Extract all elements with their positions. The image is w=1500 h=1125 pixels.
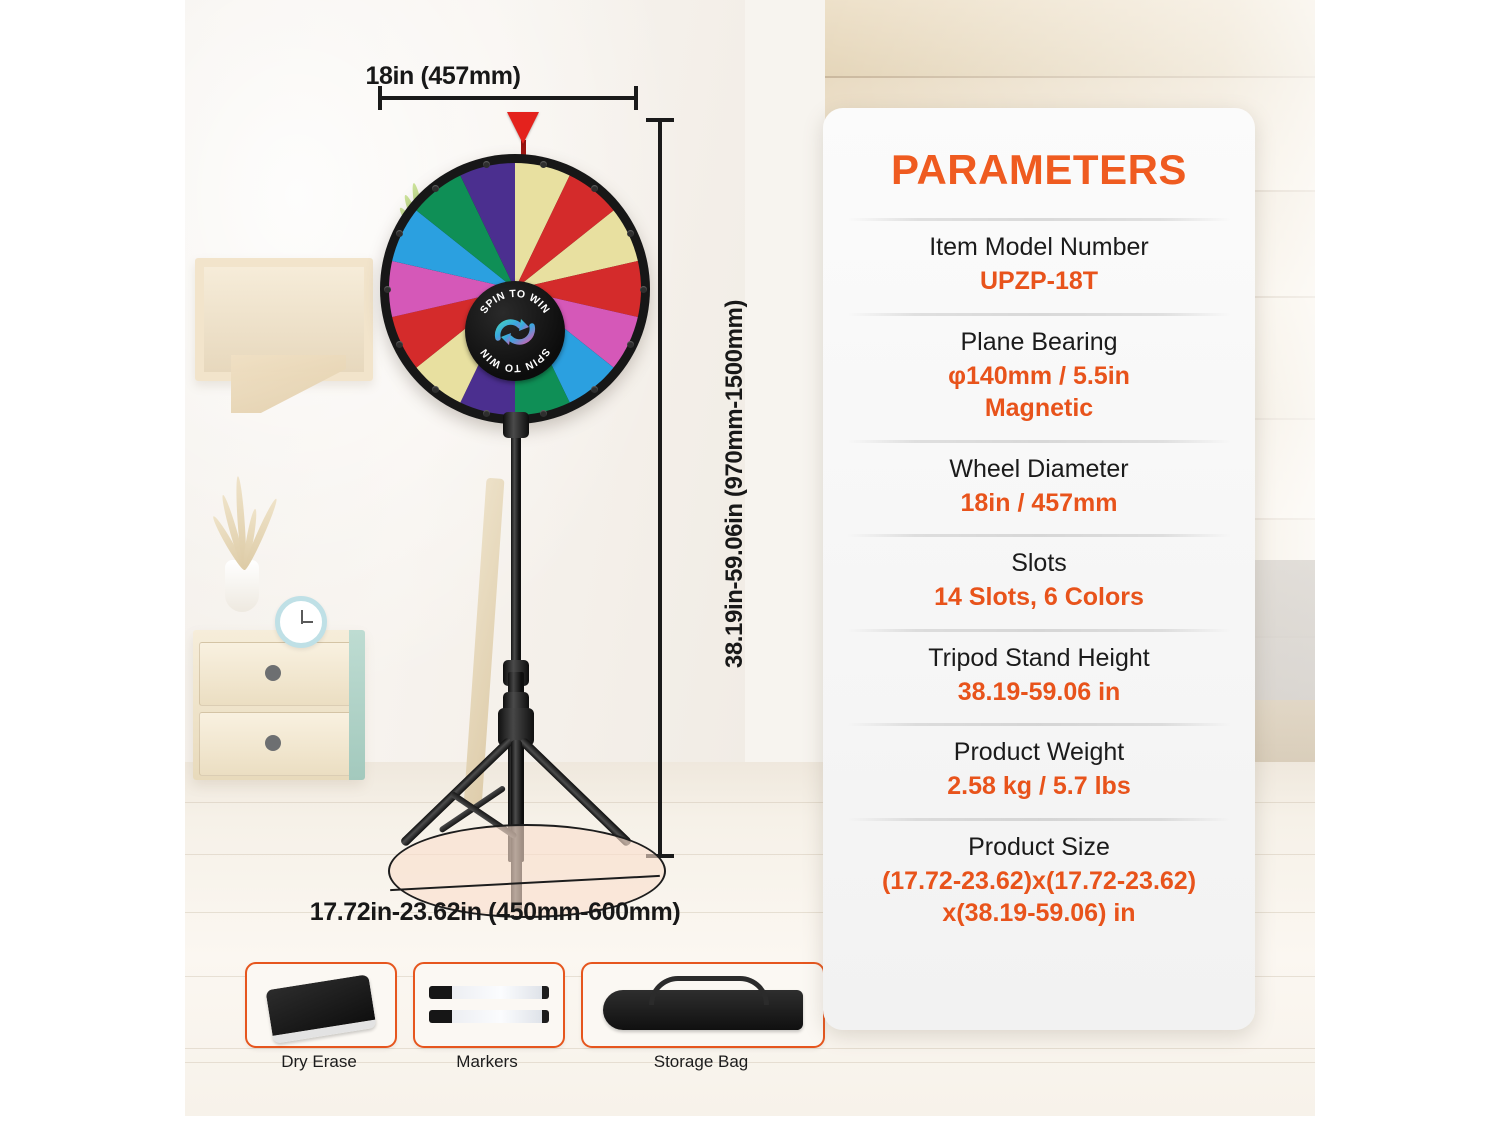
parameter-key: Wheel Diameter: [837, 453, 1241, 485]
prize-wheel-assembly: SPIN TO WIN SPIN TO WIN: [380, 112, 670, 902]
width-dimension-cap-right: [634, 86, 638, 110]
nightstand: [193, 630, 363, 780]
telescoping-pole-upper: [511, 418, 521, 686]
drawer-knob: [265, 735, 281, 751]
marker-pens-icon-2: [429, 1010, 549, 1023]
wheel-peg: [640, 286, 647, 293]
parameter-key: Tripod Stand Height: [837, 642, 1241, 674]
panel-title: PARAMETERS: [823, 146, 1255, 194]
hub-label-top: SPIN TO WIN: [478, 288, 552, 316]
wheel-hub: SPIN TO WIN SPIN TO WIN: [465, 281, 565, 381]
nightstand-side-panel: [349, 630, 365, 780]
prize-wheel: SPIN TO WIN SPIN TO WIN: [380, 154, 650, 424]
accessory-label-storage-bag: Storage Bag: [581, 1052, 821, 1072]
hub-text: SPIN TO WIN SPIN TO WIN: [465, 281, 565, 381]
parameter-key: Slots: [837, 547, 1241, 579]
height-dimension-label: 38.19in-59.06in (970mm-1500mm): [721, 274, 749, 694]
width-dimension-cap-left: [378, 86, 382, 110]
parameter-key: Item Model Number: [837, 231, 1241, 263]
wheel-peg: [384, 286, 391, 293]
wheel-peg: [591, 386, 598, 393]
wheel-peg: [627, 230, 634, 237]
parameter-row: Slots14 Slots, 6 Colors: [823, 534, 1255, 629]
wheel-peg: [540, 410, 547, 417]
wheel-peg: [432, 386, 439, 393]
parameter-value: 14 Slots, 6 Colors: [837, 581, 1241, 614]
parameter-key: Plane Bearing: [837, 326, 1241, 358]
wheel-peg: [540, 161, 547, 168]
drawer-knob: [265, 665, 281, 681]
parameter-value: 18in / 457mm: [837, 487, 1241, 520]
wheel-peg: [627, 341, 634, 348]
parameter-key: Product Size: [837, 831, 1241, 863]
base-dimension-label: 17.72in-23.62in (450mm-600mm): [245, 898, 745, 927]
storage-bag-strap-icon: [649, 976, 769, 1005]
parameters-panel: PARAMETERS Item Model NumberUPZP-18TPlan…: [823, 108, 1255, 1030]
alarm-clock: [275, 596, 327, 648]
pole-lock-collar-top: [503, 412, 529, 438]
refresh-arrows-icon: [498, 322, 533, 342]
hub-label-bottom: SPIN TO WIN: [478, 346, 552, 374]
pampas-vase: [225, 560, 259, 612]
pointer-icon: [507, 112, 539, 144]
eraser-icon: [265, 974, 376, 1044]
accessory-label-dry-erase: Dry Erase: [245, 1052, 393, 1072]
parameter-key: Product Weight: [837, 736, 1241, 768]
width-dimension-line: [378, 96, 638, 100]
accessory-card-markers: [413, 962, 565, 1048]
floor-plank-line: [185, 1048, 1315, 1049]
parameter-value-secondary: Magnetic: [837, 392, 1241, 425]
parameter-row: Product Size(17.72-23.62)x(17.72-23.62)x…: [823, 818, 1255, 945]
product-infographic: 18in (457mm) 38.19in-59.06in (970mm-1500…: [0, 0, 1500, 1125]
parameter-value: 2.58 kg / 5.7 lbs: [837, 770, 1241, 803]
parameter-row: Wheel Diameter18in / 457mm: [823, 440, 1255, 535]
parameter-value: φ140mm / 5.5in: [837, 360, 1241, 393]
marker-pens-icon: [429, 986, 549, 999]
wood-plank: [825, 0, 1315, 78]
wheel-peg: [483, 161, 490, 168]
parameter-row: Tripod Stand Height38.19-59.06 in: [823, 629, 1255, 724]
parameter-value: (17.72-23.62)x(17.72-23.62): [837, 865, 1241, 898]
parameter-rows: Item Model NumberUPZP-18TPlane Bearingφ1…: [823, 218, 1255, 945]
accessory-card-dry-erase: [245, 962, 397, 1048]
parameter-value-secondary: x(38.19-59.06) in: [837, 897, 1241, 930]
parameter-value: UPZP-18T: [837, 265, 1241, 298]
accessory-card-storage-bag: [581, 962, 825, 1048]
wheel-peg: [483, 410, 490, 417]
parameter-row: Item Model NumberUPZP-18T: [823, 218, 1255, 313]
parameter-row: Plane Bearingφ140mm / 5.5inMagnetic: [823, 313, 1255, 440]
parameter-value: 38.19-59.06 in: [837, 676, 1241, 709]
parameter-row: Product Weight2.58 kg / 5.7 lbs: [823, 723, 1255, 818]
accessory-label-markers: Markers: [413, 1052, 561, 1072]
width-dimension-label: 18in (457mm): [243, 62, 643, 91]
